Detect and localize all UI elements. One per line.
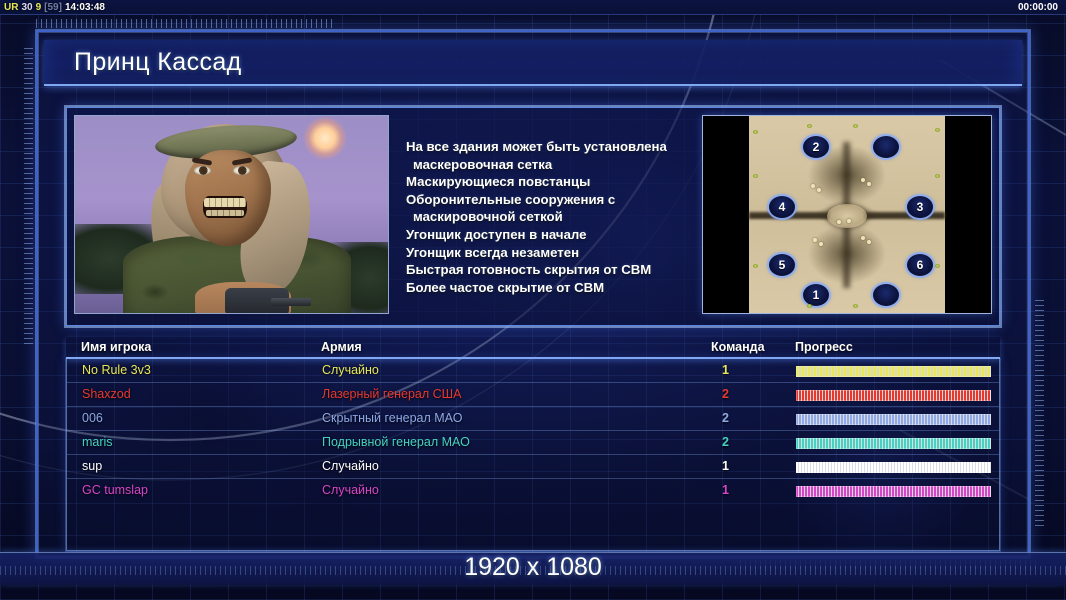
progress-bar-track — [796, 462, 991, 473]
column-header-army[interactable]: Армия — [321, 340, 362, 354]
progress-bar-track — [796, 414, 991, 425]
teeth-upper — [204, 198, 246, 207]
description-line: Оборонительные сооружения с — [406, 191, 697, 209]
status-timer: 00:00:00 — [1018, 2, 1058, 13]
general-portrait — [75, 116, 388, 313]
description-line: Маскирующиеся повстанцы — [406, 173, 697, 191]
description-line: Угонщик всегда незаметен — [406, 244, 697, 262]
player-name: GC tumslap — [82, 483, 148, 497]
column-header-team[interactable]: Команда — [711, 340, 765, 354]
column-header-progress[interactable]: Прогресс — [795, 340, 853, 354]
description-line: На все здания может быть установлена — [406, 138, 697, 156]
map-resource — [853, 304, 858, 308]
map-start-position — [873, 136, 899, 158]
status-clock: 14:03:48 — [65, 2, 105, 13]
progress-bar-track — [796, 390, 991, 401]
map-structure — [867, 182, 871, 186]
map-structure — [813, 238, 817, 242]
player-name: sup — [82, 459, 102, 473]
table-row[interactable]: No Rule 3v3Случайно1 — [67, 359, 999, 383]
map-structure — [837, 220, 841, 224]
map-structure — [861, 236, 865, 240]
map-resource — [935, 128, 940, 132]
portrait-artwork — [75, 116, 388, 313]
eye-right — [233, 166, 250, 175]
map-structure — [847, 219, 851, 223]
description-line: Более частое скрытие от СВМ — [406, 279, 697, 297]
player-table-header: Имя игрока Армия Команда Прогресс — [66, 337, 1000, 359]
player-table-body: No Rule 3v3Случайно1ShaxzodЛазерный гене… — [66, 359, 1000, 551]
player-army: Лазерный генерал США — [322, 387, 461, 401]
map-resource — [753, 264, 758, 268]
ability-description-list: На все здания может быть установлена мас… — [388, 116, 703, 296]
progress-bar-fill — [796, 390, 991, 401]
player-team: 1 — [722, 459, 729, 473]
map-resource — [753, 130, 758, 134]
ruler-ticks-left — [24, 48, 33, 348]
player-team: 2 — [722, 411, 729, 425]
map-terrain: 243561 — [749, 116, 945, 313]
general-info-panel: На все здания может быть установлена мас… — [66, 107, 1000, 326]
ruler-ticks-top — [36, 19, 336, 28]
status-value-2: 9 — [36, 2, 42, 13]
mouth — [203, 196, 247, 218]
map-center-plateau — [827, 204, 867, 228]
player-name: Shaxzod — [82, 387, 131, 401]
map-structure — [867, 240, 871, 244]
page-title: Принц Кассад — [74, 48, 242, 77]
player-army: Случайно — [322, 483, 379, 497]
progress-bar-track — [796, 438, 991, 449]
map-preview[interactable]: 243561 — [703, 116, 991, 313]
description-line: Быстрая готовность скрытия от СВМ — [406, 261, 697, 279]
map-resource — [935, 174, 940, 178]
table-row[interactable]: 006Скрытный генерал МАО2 — [67, 407, 999, 431]
map-start-position: 5 — [769, 254, 795, 276]
table-row[interactable]: GC tumslapСлучайно1 — [67, 479, 999, 503]
column-header-name[interactable]: Имя игрока — [81, 340, 151, 354]
description-line: маскеровочная сетка — [406, 156, 697, 174]
player-army: Подрывной генерал МАО — [322, 435, 470, 449]
player-team: 1 — [722, 363, 729, 377]
map-structure — [817, 188, 821, 192]
map-start-position: 1 — [803, 284, 829, 306]
player-team: 1 — [722, 483, 729, 497]
progress-bar-fill — [796, 366, 991, 377]
eye-left — [194, 166, 211, 175]
teeth-lower — [206, 210, 244, 216]
map-resource — [935, 264, 940, 268]
player-team: 2 — [722, 387, 729, 401]
player-name: maris — [82, 435, 113, 449]
description-line: Угонщик доступен в начале — [406, 226, 697, 244]
status-bar: UR 30 9 [59] 14:03:48 00:00:00 — [0, 0, 1066, 15]
progress-bar-fill — [796, 462, 991, 473]
player-name: 006 — [82, 411, 103, 425]
table-row[interactable]: supСлучайно1 — [67, 455, 999, 479]
player-name: No Rule 3v3 — [82, 363, 151, 377]
map-start-position: 4 — [769, 196, 795, 218]
progress-bar-fill — [796, 414, 991, 425]
map-resource — [807, 124, 812, 128]
player-army: Случайно — [322, 459, 379, 473]
status-value-1: 30 — [21, 2, 32, 13]
progress-bar-fill — [796, 438, 991, 449]
table-row[interactable]: marisПодрывной генерал МАО2 — [67, 431, 999, 455]
map-structure — [811, 184, 815, 188]
ruler-ticks-right — [1035, 300, 1044, 530]
map-resource — [853, 124, 858, 128]
map-structure — [861, 178, 865, 182]
map-resource — [807, 304, 812, 308]
map-start-position — [873, 284, 899, 306]
title-bar: Принц Кассад — [44, 40, 1022, 86]
status-label: UR — [4, 2, 18, 13]
map-start-position: 6 — [907, 254, 933, 276]
table-row[interactable]: ShaxzodЛазерный генерал США2 — [67, 383, 999, 407]
map-start-position: 3 — [907, 196, 933, 218]
progress-bar-fill — [796, 486, 991, 497]
resolution-label: 1920 x 1080 — [0, 553, 1066, 582]
weapon-barrel — [271, 298, 311, 306]
status-bracket: [59] — [44, 2, 62, 13]
player-team: 2 — [722, 435, 729, 449]
map-resource — [753, 174, 758, 178]
progress-bar-track — [796, 366, 991, 377]
player-army: Скрытный генерал МАО — [322, 411, 462, 425]
map-start-position: 2 — [803, 136, 829, 158]
map-structure — [819, 242, 823, 246]
player-army: Случайно — [322, 363, 379, 377]
progress-bar-track — [796, 486, 991, 497]
game-lobby-screen: UR 30 9 [59] 14:03:48 00:00:00 Принц Кас… — [0, 0, 1066, 600]
description-line: маскировочной сеткой — [406, 208, 697, 226]
